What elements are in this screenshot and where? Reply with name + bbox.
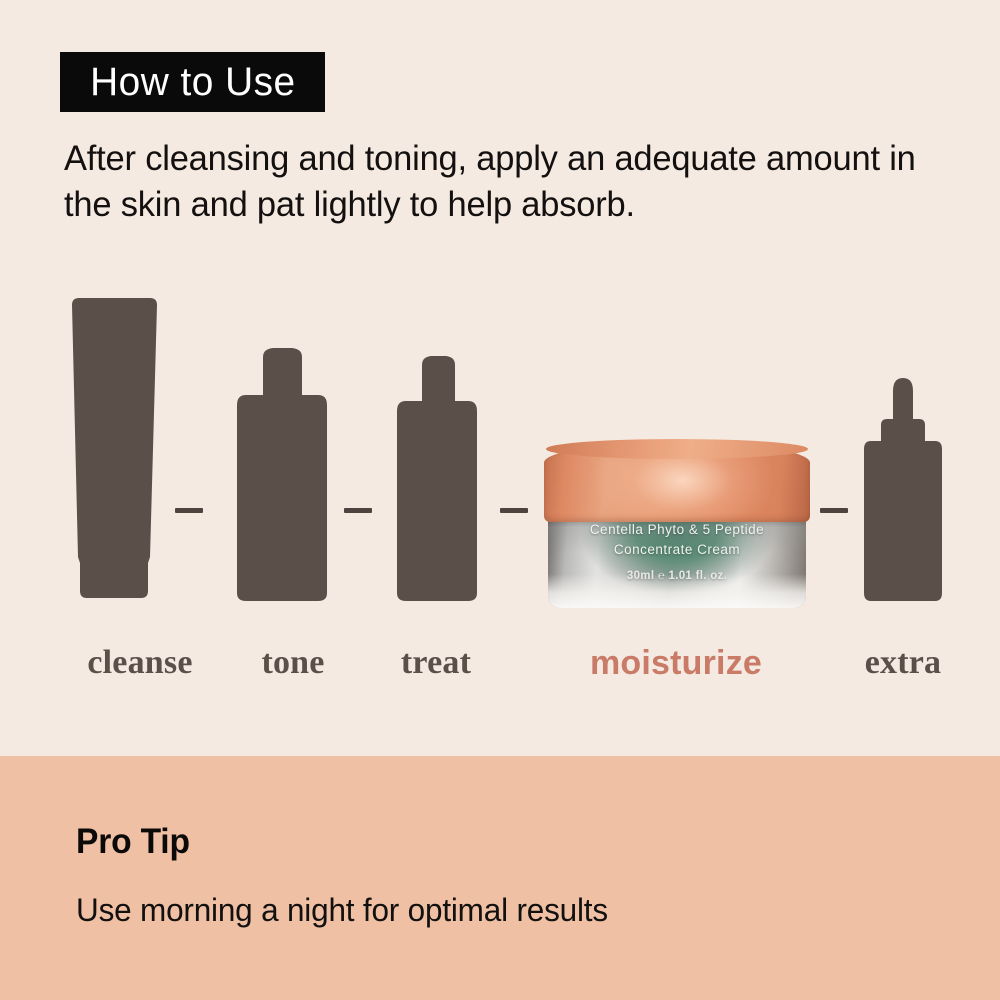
step-label-treat: treat: [360, 646, 512, 680]
serum-bottle-silhouette-icon: [394, 353, 480, 610]
dropper-bottle-silhouette-icon: [860, 375, 946, 610]
how-to-use-badge: How to Use: [60, 52, 325, 112]
step-label-extra: extra: [838, 646, 968, 680]
pro-tip-band: Pro Tip Use morning a night for optimal …: [0, 756, 1000, 1000]
routine-steps-row: cleanse tone treat: [0, 280, 1000, 680]
pro-tip-title: Pro Tip: [76, 824, 190, 859]
step-separator-dash-1: [175, 508, 203, 513]
cream-jar-product-photo: Centella Phyto & 5 Peptide Concentrate C…: [544, 442, 810, 610]
routine-step-extra: extra: [838, 280, 968, 680]
toner-bottle-silhouette-icon: [234, 343, 330, 610]
infographic-page: How to Use After cleansing and toning, a…: [0, 0, 1000, 1000]
step-label-moisturize: moisturize: [530, 646, 822, 680]
step-separator-dash-2: [344, 508, 372, 513]
how-to-use-label: How to Use: [90, 62, 295, 102]
step-separator-dash-4: [820, 508, 848, 513]
routine-step-treat: treat: [360, 280, 512, 680]
jar-body: [548, 514, 806, 608]
routine-step-moisturize: Centella Phyto & 5 Peptide Concentrate C…: [530, 280, 822, 680]
step-separator-dash-3: [500, 508, 528, 513]
tube-silhouette-icon: [60, 295, 172, 610]
jar-lid-top-surface: [546, 439, 808, 459]
pro-tip-text: Use morning a night for optimal results: [76, 894, 608, 926]
usage-instructions-text: After cleansing and toning, apply an ade…: [64, 136, 931, 227]
